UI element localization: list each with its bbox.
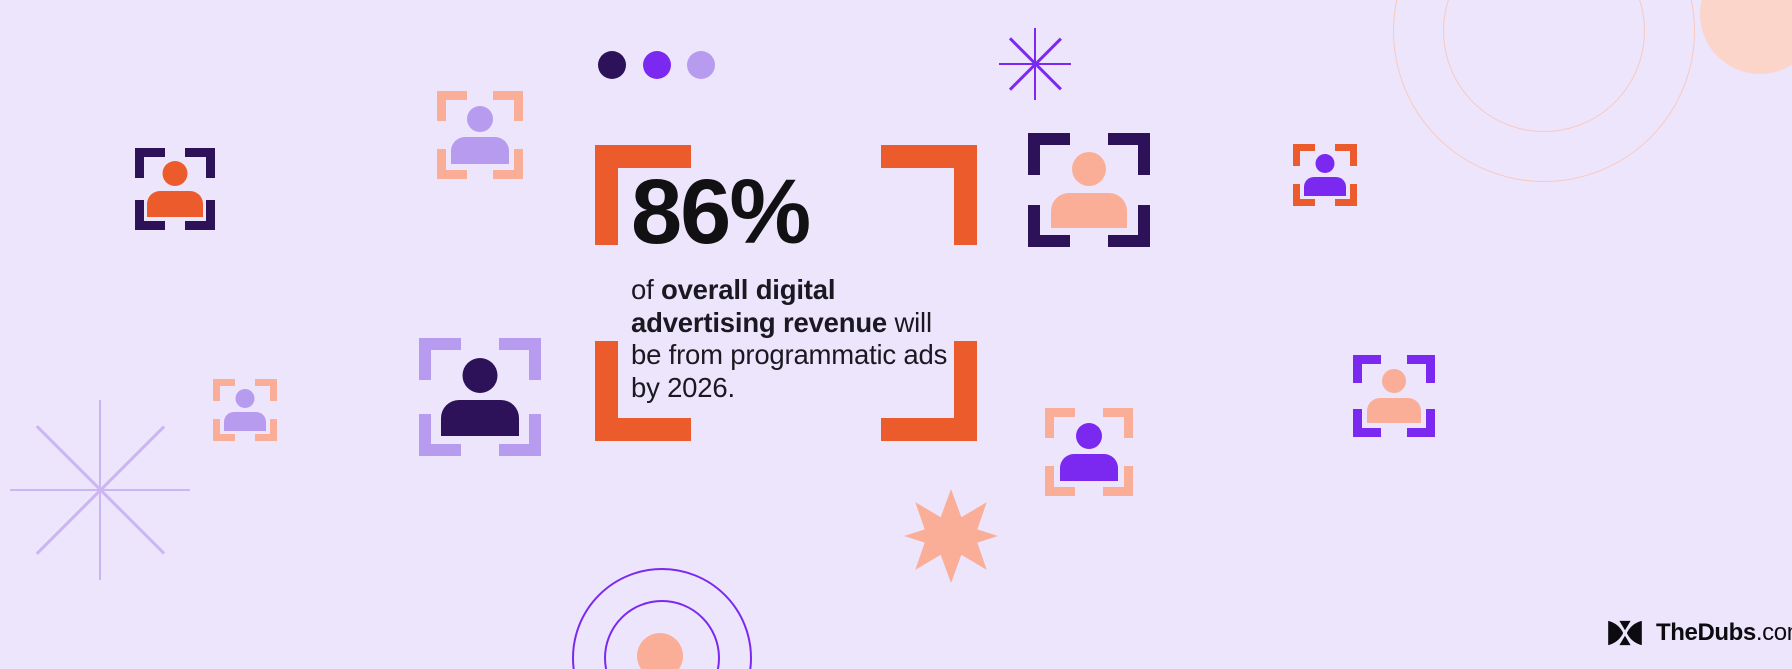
badge-lower-peach [1045, 408, 1133, 496]
person-icon [1304, 154, 1346, 196]
person-icon [441, 358, 519, 436]
badge-lavender [419, 338, 541, 456]
stat-description: of overall digital advertising revenue w… [631, 274, 961, 404]
desc-prefix: of [631, 274, 661, 305]
dot-lavender [687, 51, 715, 79]
desc-bold-two: advertising revenue [631, 307, 887, 338]
stat-text-block: 86% of overall digital advertising reven… [631, 168, 961, 404]
asterisk-violet-top-icon [999, 28, 1071, 100]
bracket-arm-horizontal [595, 418, 691, 441]
badge-left-dark [135, 148, 215, 230]
eight-point-burst-peach-icon [904, 489, 998, 583]
thedubs-logo[interactable]: TheDubs.com [1606, 619, 1792, 647]
stat-value: 86% [631, 168, 961, 256]
bracket-arm-horizontal [881, 418, 977, 441]
corner-blob-peach [1700, 0, 1792, 74]
badge-right-dark [1028, 133, 1150, 247]
person-icon [1367, 369, 1421, 423]
person-icon [1051, 152, 1127, 228]
infographic-canvas: 86% of overall digital advertising reven… [0, 0, 1792, 669]
person-icon [451, 106, 509, 164]
person-icon [1060, 423, 1118, 481]
badge-small-peach [213, 379, 277, 441]
bracket-arm-vertical [595, 145, 618, 245]
dot-dark-purple [598, 51, 626, 79]
badge-far-right-orange [1293, 144, 1357, 206]
asterisk-lavender-bottom-left-icon [10, 400, 190, 580]
wordmark-tld: .com [1756, 619, 1792, 646]
badge-upper-peach [437, 91, 523, 179]
thedubs-wordmark: TheDubs.com [1656, 619, 1792, 647]
wordmark-name: TheDubs [1656, 619, 1756, 646]
person-icon [224, 389, 266, 431]
person-icon [147, 161, 203, 217]
dot-violet [643, 51, 671, 79]
thedubs-bowtie-mark-icon [1606, 619, 1644, 647]
badge-right-violet [1353, 355, 1435, 437]
desc-bold-one: overall digital [661, 274, 835, 305]
